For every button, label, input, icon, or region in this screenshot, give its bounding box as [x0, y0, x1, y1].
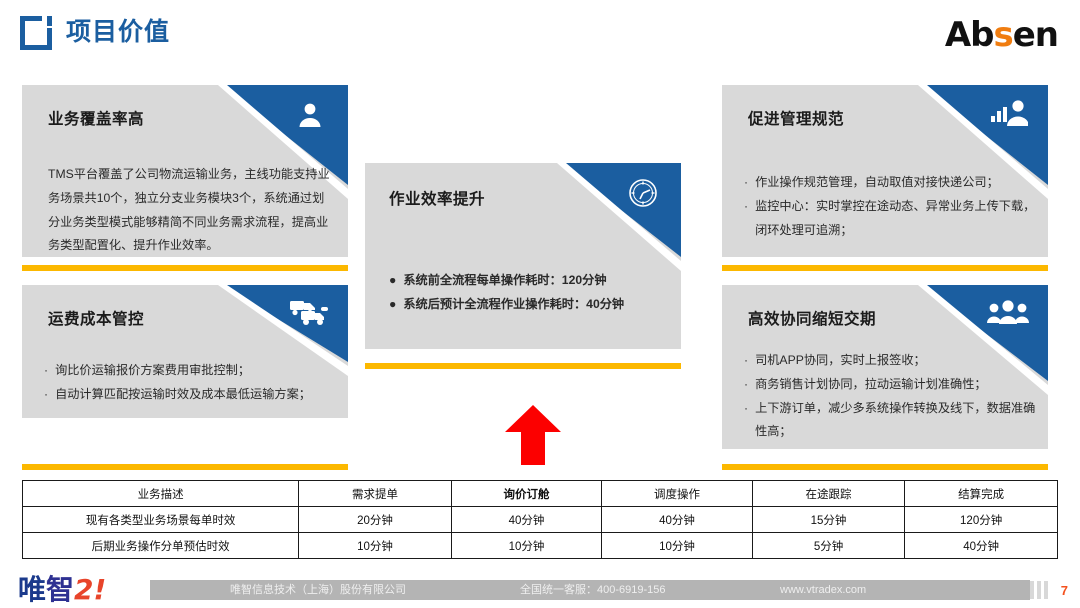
col-header-4: 在途跟踪 [752, 481, 904, 507]
col-header-3: 调度操作 [602, 481, 753, 507]
accent-bar-3 [365, 363, 681, 369]
table-header-row: 业务描述 需求提单 询价订舱 调度操作 在途跟踪 结算完成 [23, 481, 1058, 507]
bullet-text: 询比价运输报价方案费用审批控制； [55, 359, 336, 383]
logo-char-1: 唯 [18, 576, 46, 604]
cell-r0c3: 40分钟 [602, 507, 753, 533]
group-people-icon [986, 299, 1030, 332]
absen-logo: Absen [945, 18, 1058, 52]
bullet-dot: · [744, 171, 748, 195]
timing-comparison-table: 业务描述 需求提单 询价订舱 调度操作 在途跟踪 结算完成 现有各类型业务场景每… [22, 480, 1058, 559]
footer-website: www.vtradex.com [780, 582, 866, 598]
card-bullets: · 询比价运输报价方案费用审批控制； · 自动计算匹配按运输时效及成本最低运输方… [44, 359, 336, 407]
footer-hotline: 全国统一客服：400-6919-156 [520, 582, 666, 598]
accent-bar-1 [22, 265, 348, 271]
card-title: 业务覆盖率高 [48, 107, 144, 129]
list-item: · 上下游订单，减少多系统操作转换及线下，数据准确性高； [744, 397, 1036, 445]
logo-char-2: 智 [46, 576, 74, 604]
footer-bar: 唯智信息技术（上海）股份有限公司 全国统一客服：400-6919-156 www… [150, 580, 1030, 600]
card-bullets: · 作业操作规范管理，自动取值对接快递公司； · 监控中心：实时掌控在途动态、异… [744, 171, 1036, 242]
page-title: 项目价值 [66, 20, 170, 45]
list-item: ● 系统后预计全流程作业操作耗时：40分钟 [389, 293, 665, 317]
bullet-dot: · [44, 383, 48, 407]
col-header-1: 需求提单 [299, 481, 451, 507]
list-item: · 司机APP协同，实时上报签收； [744, 349, 1036, 373]
cell-r1c0: 后期业务操作分单预估时效 [23, 533, 299, 559]
list-item: · 询比价运输报价方案费用审批控制； [44, 359, 336, 383]
list-item: · 作业操作规范管理，自动取值对接快递公司； [744, 171, 1036, 195]
card-title: 促进管理规范 [748, 107, 844, 129]
bullet-dot: ● [389, 269, 396, 293]
card-title: 高效协同缩短交期 [748, 307, 876, 329]
col-header-2: 询价订舱 [451, 481, 602, 507]
bullet-dot: · [744, 397, 748, 445]
brand-suffix: en [1013, 15, 1058, 55]
footer-company: 唯智信息技术（上海）股份有限公司 [230, 582, 406, 598]
card-work-efficiency[interactable]: 作业效率提升 ● 系统前全流程每单操作耗时：120分钟 ● 系统后预计全流程作业… [365, 163, 681, 349]
cell-r0c2: 40分钟 [451, 507, 602, 533]
col-header-0: 业务描述 [23, 481, 299, 507]
cell-r0c4: 15分钟 [752, 507, 904, 533]
card-business-coverage[interactable]: 业务覆盖率高 TMS平台覆盖了公司物流运输业务，主线功能支持业务场景共10个，独… [22, 85, 348, 257]
bullet-text: 司机APP协同，实时上报签收； [755, 349, 1036, 373]
footer-ticks [1030, 581, 1048, 599]
vtradex-logo: 唯 智 2! [18, 570, 106, 604]
col-header-5: 结算完成 [905, 481, 1058, 507]
table-row: 现有各类型业务场景每单时效 20分钟 40分钟 40分钟 15分钟 120分钟 [23, 507, 1058, 533]
page-footer: 唯 智 2! 唯智信息技术（上海）股份有限公司 全国统一客服：400-6919-… [0, 566, 1080, 608]
cell-r1c3: 10分钟 [602, 533, 753, 559]
page-header: 项目价值 [18, 14, 170, 50]
cell-r0c0: 现有各类型业务场景每单时效 [23, 507, 299, 533]
table-row: 后期业务操作分单预估时效 10分钟 10分钟 10分钟 5分钟 40分钟 [23, 533, 1058, 559]
bullet-dot: · [744, 195, 748, 243]
card-freight-cost-control[interactable]: 运费成本管控 · 询比价运输报价方案费用审批控制； · 自动计算匹配按运输时效及… [22, 285, 348, 418]
bullet-dot: · [744, 373, 748, 397]
logo-char-3: 2! [74, 576, 106, 604]
card-title: 运费成本管控 [48, 307, 144, 329]
footer-tick [1037, 581, 1041, 599]
cell-r1c1: 10分钟 [299, 533, 451, 559]
accent-bar-2 [22, 464, 348, 470]
brand-accent: s [993, 15, 1012, 55]
card-collaboration-lead-time[interactable]: 高效协同缩短交期 · 司机APP协同，实时上报签收； · 商务销售计划协同，拉动… [722, 285, 1048, 449]
card-title: 作业效率提升 [389, 187, 485, 209]
clock-icon [627, 177, 659, 214]
page-number: 7 [1061, 583, 1068, 598]
bullet-text: 系统后预计全流程作业操作耗时：40分钟 [403, 293, 665, 317]
truck-icon [288, 299, 330, 332]
bullet-text: 监控中心：实时掌控在途动态、异常业务上传下载，闭环处理可追溯； [755, 195, 1036, 243]
list-item: · 自动计算匹配按运输时效及成本最低运输方案； [44, 383, 336, 407]
bullet-dot: · [44, 359, 48, 383]
bullet-text: 系统前全流程每单操作耗时：120分钟 [403, 269, 665, 293]
brand-prefix: Ab [945, 15, 994, 55]
bullet-text: 自动计算匹配按运输时效及成本最低运输方案； [55, 383, 336, 407]
bullet-dot: · [744, 349, 748, 373]
presentation-person-icon [990, 99, 1028, 132]
bullet-text: 上下游订单，减少多系统操作转换及线下，数据准确性高； [755, 397, 1036, 445]
list-item: · 监控中心：实时掌控在途动态、异常业务上传下载，闭环处理可追溯； [744, 195, 1036, 243]
cell-r0c5: 120分钟 [905, 507, 1058, 533]
slide-root: 项目价值 Absen 业务覆盖率高 TMS平台覆盖了公司物流运输业务，主线功能支… [0, 0, 1080, 608]
person-icon [296, 101, 324, 134]
cell-r1c2: 10分钟 [451, 533, 602, 559]
card-management-standard[interactable]: 促进管理规范 · 作业操作规范管理，自动取值对接快递公司； · 监控中心：实时掌… [722, 85, 1048, 257]
cell-r1c5: 40分钟 [905, 533, 1058, 559]
card-bullets: ● 系统前全流程每单操作耗时：120分钟 ● 系统后预计全流程作业操作耗时：40… [389, 269, 665, 317]
accent-bar-5 [722, 464, 1048, 470]
card-bullets: · 司机APP协同，实时上报签收； · 商务销售计划协同，拉动运输计划准确性； … [744, 349, 1036, 444]
list-item: ● 系统前全流程每单操作耗时：120分钟 [389, 269, 665, 293]
cell-r0c1: 20分钟 [299, 507, 451, 533]
accent-bar-4 [722, 265, 1048, 271]
up-arrow-icon [505, 405, 561, 470]
footer-tick [1030, 581, 1034, 599]
cell-r1c4: 5分钟 [752, 533, 904, 559]
footer-tick [1044, 581, 1048, 599]
bullet-text: 作业操作规范管理，自动取值对接快递公司； [755, 171, 1036, 195]
bracket-square-icon [18, 14, 54, 50]
bullet-text: 商务销售计划协同，拉动运输计划准确性； [755, 373, 1036, 397]
list-item: · 商务销售计划协同，拉动运输计划准确性； [744, 373, 1036, 397]
card-paragraph: TMS平台覆盖了公司物流运输业务，主线功能支持业务场景共10个，独立分支业务模块… [48, 163, 334, 257]
bullet-dot: ● [389, 293, 396, 317]
